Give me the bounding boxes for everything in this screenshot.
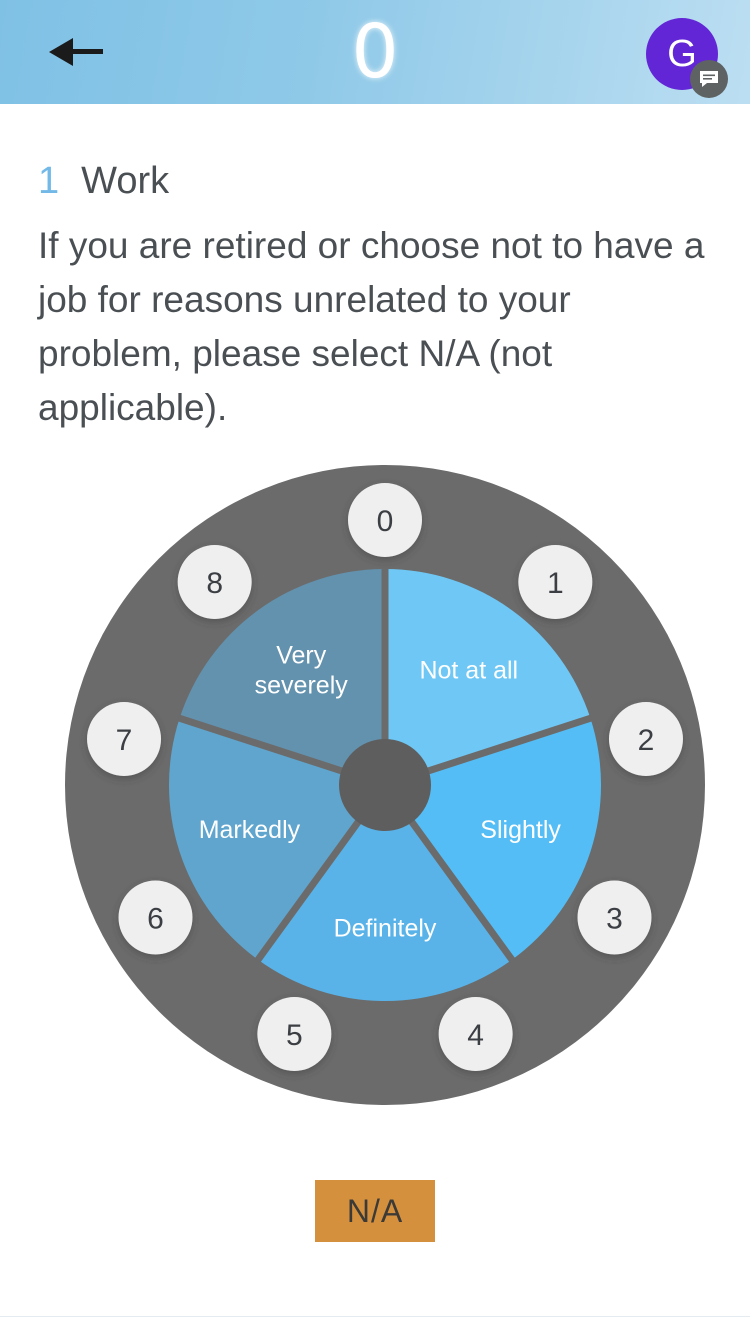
dial-segment-label: Definitely bbox=[334, 915, 437, 943]
avatar-with-messages[interactable]: G bbox=[646, 18, 724, 96]
chat-bubble-icon bbox=[698, 69, 720, 89]
na-button[interactable]: N/A bbox=[315, 1180, 435, 1242]
dial-center-hub[interactable] bbox=[339, 739, 431, 831]
dial-value-badge-label: 2 bbox=[638, 724, 655, 757]
dial-value-badge[interactable]: 5 bbox=[257, 997, 331, 1071]
dial-value-badge-label: 6 bbox=[147, 903, 164, 936]
back-arrow-icon bbox=[47, 35, 105, 69]
dial-value-badge[interactable]: 6 bbox=[119, 881, 193, 955]
question-heading: 1 Work bbox=[38, 160, 728, 203]
rating-dial[interactable]: Not at allSlightlyDefinitelyMarkedlyVery… bbox=[65, 455, 705, 1115]
dial-value-badge[interactable]: 1 bbox=[518, 545, 592, 619]
dial-value-badge-label: 4 bbox=[467, 1019, 484, 1052]
messages-button[interactable] bbox=[690, 60, 728, 98]
dial-value-badge[interactable]: 3 bbox=[577, 881, 651, 955]
dial-value-badge-label: 7 bbox=[116, 724, 133, 757]
rating-dial-svg: Not at allSlightlyDefinitelyMarkedlyVery… bbox=[65, 455, 705, 1115]
na-button-label: N/A bbox=[347, 1193, 403, 1230]
dial-value-badge[interactable]: 7 bbox=[87, 702, 161, 776]
dial-value-badge[interactable]: 2 bbox=[609, 702, 683, 776]
dial-value-badge-label: 3 bbox=[606, 903, 623, 936]
dial-value-badge-label: 5 bbox=[286, 1019, 303, 1052]
dial-segment-label: Slightly bbox=[480, 816, 561, 844]
dial-segment-label: Not at all bbox=[419, 657, 518, 685]
app-logo-text: 0 bbox=[351, 15, 398, 89]
bottom-divider bbox=[0, 1316, 750, 1317]
dial-segment-label: Markedly bbox=[199, 816, 301, 844]
question-block: 1 Work If you are retired or choose not … bbox=[38, 160, 728, 435]
question-title: Work bbox=[81, 160, 169, 203]
back-button[interactable] bbox=[36, 24, 116, 80]
dial-value-badge[interactable]: 0 bbox=[348, 483, 422, 557]
dial-value-badge[interactable]: 4 bbox=[439, 997, 513, 1071]
dial-value-badge[interactable]: 8 bbox=[178, 545, 252, 619]
question-number: 1 bbox=[38, 160, 59, 203]
dial-value-badge-label: 8 bbox=[206, 567, 223, 600]
dial-value-badge-label: 1 bbox=[547, 567, 564, 600]
question-text: If you are retired or choose not to have… bbox=[38, 219, 718, 435]
app-header: 0 G bbox=[0, 0, 750, 104]
dial-value-badge-label: 0 bbox=[377, 505, 394, 538]
